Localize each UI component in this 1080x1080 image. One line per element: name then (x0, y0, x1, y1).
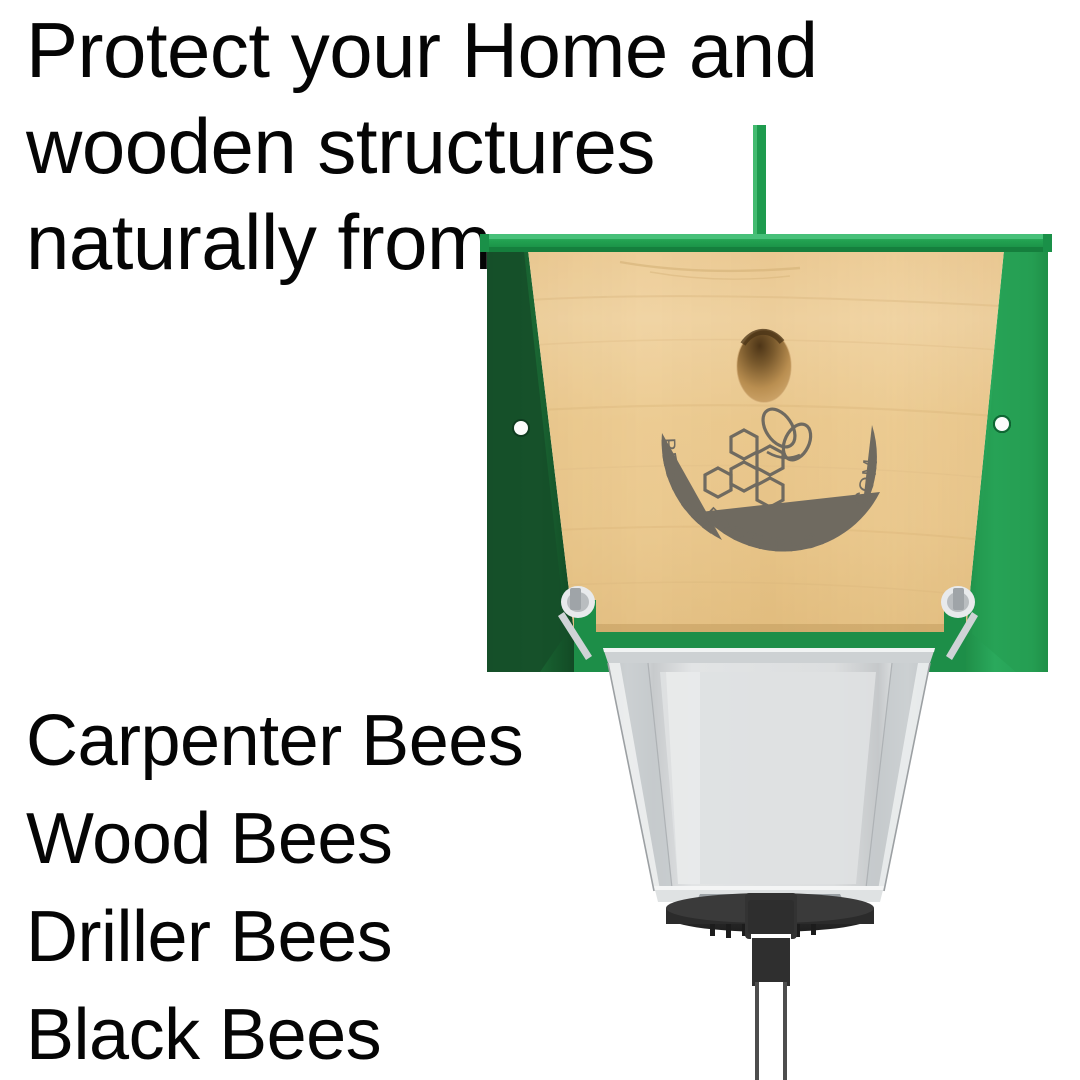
screw-hole-left (512, 419, 530, 437)
honeycomb-icon (705, 430, 783, 507)
brand-logo-text: BEST BEE BROTHERS. COM (656, 425, 882, 557)
bee-type-list: Carpenter Bees Wood Bees Driller Bees Bl… (26, 692, 666, 1080)
list-item: Black Bees (26, 986, 666, 1080)
screw-hole-right (993, 415, 1011, 433)
left-inner-bevel (487, 252, 566, 672)
promo-image: Protect your Home and wooden structures … (0, 0, 1080, 1080)
right-inner-bevel (972, 252, 1048, 672)
wood-face-panel (520, 250, 1020, 640)
list-item: Carpenter Bees (26, 692, 666, 790)
left-side-panel (487, 250, 574, 672)
entrance-hole-icon (737, 330, 791, 402)
hanging-strip (752, 938, 790, 1080)
bee-icon (756, 403, 816, 464)
hinge-bracket-left (558, 586, 595, 660)
svg-text:BEST BEE: BEST BEE (656, 438, 723, 540)
list-item: Wood Bees (26, 790, 666, 888)
hinge-bracket-right (941, 586, 978, 660)
green-back-panel (574, 632, 966, 672)
svg-text:COM: COM (849, 456, 883, 511)
right-side-panel (966, 250, 1048, 672)
list-item: Driller Bees (26, 888, 666, 986)
page-title: Protect your Home and wooden structures … (26, 2, 886, 290)
svg-text:BROTHERS.: BROTHERS. (699, 503, 829, 556)
brand-logo: BEST BEE BROTHERS. COM (656, 403, 882, 556)
jar-cap (666, 893, 874, 940)
